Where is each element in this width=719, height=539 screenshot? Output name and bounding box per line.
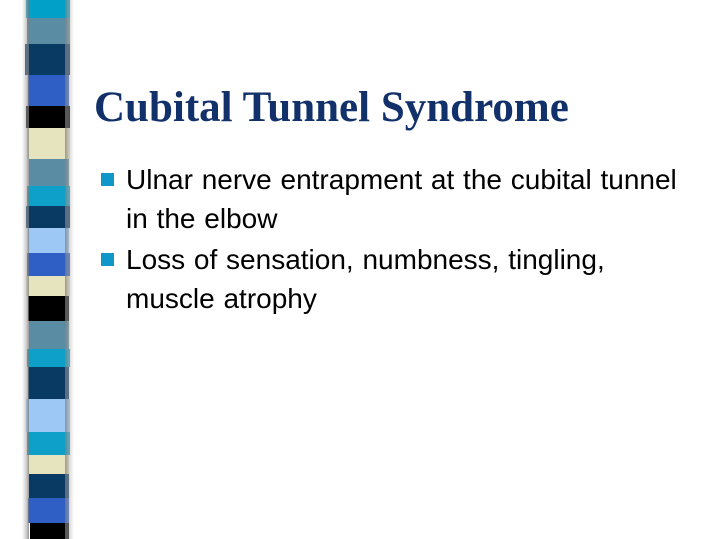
square-bullet-icon [101,253,114,266]
stripe-band-6 [29,159,69,186]
stripe-band-9 [28,228,69,253]
stripe-band-8 [26,206,70,228]
stripe-band-12 [28,296,69,321]
stripe-band-2 [25,44,70,75]
stripe-band-15 [28,367,69,399]
bullet-text: Ulnar nerve entrapment at the cubital tu… [98,160,688,238]
stripe-band-3 [28,75,69,106]
stripe-band-13 [29,321,69,349]
bullet-list: Ulnar nerve entrapment at the cubital tu… [98,160,688,320]
stripe-band-4 [26,106,70,128]
list-item: Loss of sensation, numbness, tingling, m… [98,240,688,318]
stripe-bands-container [26,0,70,539]
vertical-color-stripe [22,0,74,539]
stripe-band-11 [26,276,70,296]
page-title: Cubital Tunnel Syndrome [94,83,674,133]
stripe-band-21 [30,523,69,539]
list-item: Ulnar nerve entrapment at the cubital tu… [98,160,688,238]
stripe-band-18 [28,455,69,474]
stripe-band-17 [27,432,70,455]
square-bullet-icon [101,173,114,186]
stripe-band-10 [27,253,70,276]
stripe-band-7 [27,186,70,206]
stripe-band-19 [29,474,69,498]
stripe-band-5 [27,128,70,159]
stripe-band-0 [26,0,70,18]
stripe-band-16 [26,399,70,432]
stripe-band-1 [27,18,70,44]
stripe-band-14 [27,349,70,367]
slide-canvas: Cubital Tunnel Syndrome Ulnar nerve entr… [0,0,719,539]
bullet-text: Loss of sensation, numbness, tingling, m… [98,240,688,318]
stripe-band-20 [28,498,69,523]
